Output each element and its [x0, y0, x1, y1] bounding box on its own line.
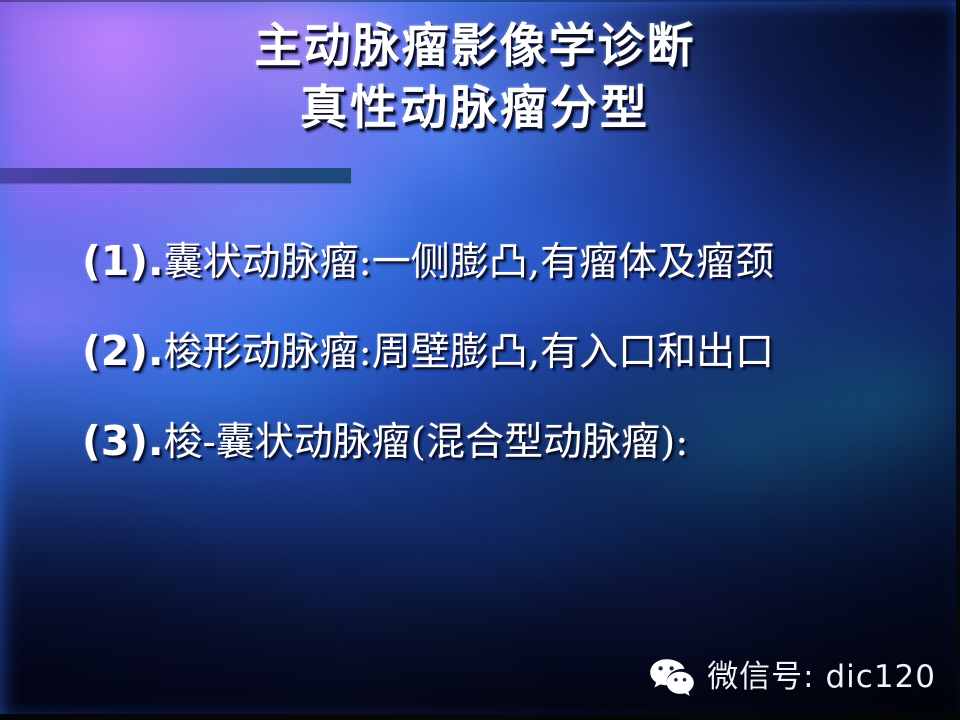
slide-top-edge [0, 0, 960, 2]
wechat-icon [649, 658, 695, 696]
bullet-marker-3: (3). [82, 417, 164, 465]
bullet-text-1: 囊状动脉瘤:一侧膨凸,有瘤体及瘤颈 [164, 240, 775, 285]
bullet-item-1: (1).囊状动脉瘤:一侧膨凸,有瘤体及瘤颈 [82, 232, 942, 292]
wechat-id-text: 微信号: dic120 [707, 660, 936, 694]
wechat-watermark: 微信号: dic120 [649, 658, 936, 696]
slide-bottom-edge [0, 714, 960, 720]
bullet-item-2: (2).梭形动脉瘤:周壁膨凸,有入口和出口 [82, 322, 942, 382]
slide-right-edge [956, 0, 960, 720]
bullet-text-2: 梭形动脉瘤:周壁膨凸,有入口和出口 [164, 330, 775, 375]
presentation-slide: 主动脉瘤影像学诊断 真性动脉瘤分型 (1).囊状动脉瘤:一侧膨凸,有瘤体及瘤颈 … [0, 0, 960, 720]
slide-body: (1).囊状动脉瘤:一侧膨凸,有瘤体及瘤颈 (2).梭形动脉瘤:周壁膨凸,有入口… [82, 232, 942, 502]
bullet-item-3: (3).梭-囊状动脉瘤(混合型动脉瘤): [82, 412, 942, 472]
slide-title-line-2: 真性动脉瘤分型 [0, 78, 950, 140]
bullet-marker-1: (1). [82, 237, 164, 285]
slide-title: 主动脉瘤影像学诊断 真性动脉瘤分型 [0, 16, 950, 140]
slide-title-line-1: 主动脉瘤影像学诊断 [0, 16, 950, 78]
title-underline-bar [0, 168, 351, 183]
bullet-marker-2: (2). [82, 327, 164, 375]
bullet-text-3: 梭-囊状动脉瘤(混合型动脉瘤): [164, 420, 689, 465]
